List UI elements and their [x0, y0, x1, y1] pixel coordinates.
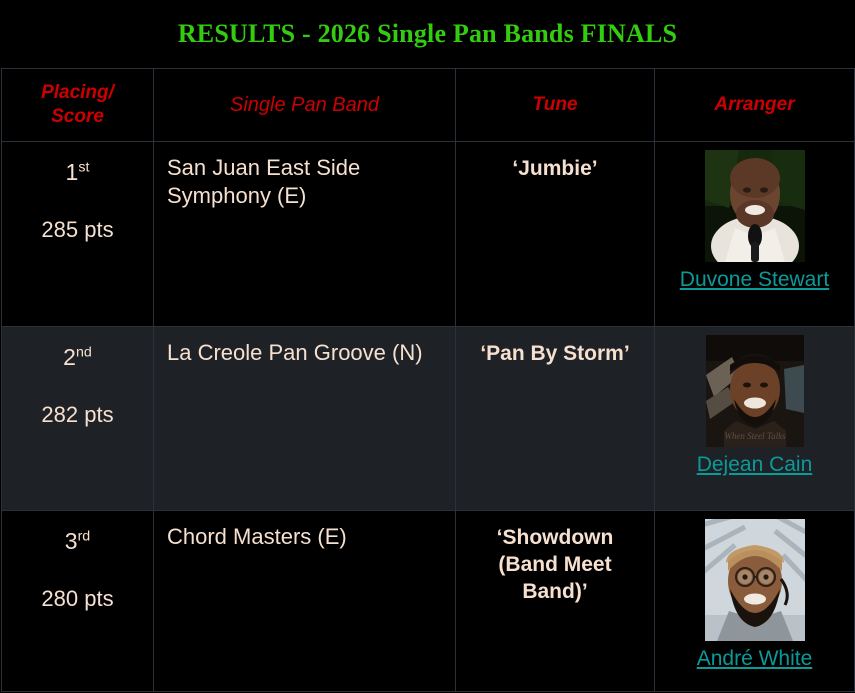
rank-suffix: st — [78, 159, 89, 175]
cell-band-name: Chord Masters (E) — [154, 511, 456, 692]
column-header-single-pan-band: Single Pan Band — [154, 69, 456, 142]
column-header-placing-line1: Placing/ — [2, 81, 153, 105]
placing-rank: 1st — [12, 160, 143, 185]
portrait-dejean-cain-icon: When Steel Talks — [706, 335, 804, 447]
cell-band-name: San Juan East Side Symphony (E) — [154, 142, 456, 327]
rank-number: 1 — [66, 159, 79, 185]
cell-tune: ‘Showdown (Band Meet Band)’ — [456, 511, 655, 692]
column-header-band-label: Single Pan Band — [154, 93, 455, 118]
tune-name: ‘Pan By Storm’ — [466, 339, 644, 368]
cell-placing-score: 2nd 282 pts — [2, 327, 154, 511]
arranger-link[interactable]: André White — [697, 647, 813, 671]
cell-tune: ‘Jumbie’ — [456, 142, 655, 327]
column-header-placing-score: Placing/ Score — [2, 69, 154, 142]
svg-text:When Steel Talks: When Steel Talks — [724, 431, 786, 441]
column-header-tune-label: Tune — [456, 93, 654, 117]
arranger-photo — [705, 519, 805, 641]
column-header-placing-line2: Score — [2, 105, 153, 129]
results-page: RESULTS - 2026 Single Pan Bands FINALS P… — [0, 0, 855, 693]
placing-rank: 3rd — [12, 529, 143, 554]
rank-suffix: rd — [78, 528, 91, 544]
portrait-duvone-stewart-icon — [705, 150, 805, 262]
placing-rank: 2nd — [12, 345, 143, 370]
table-header-row: Placing/ Score Single Pan Band Tune Arra… — [2, 69, 855, 142]
page-title-bar: RESULTS - 2026 Single Pan Bands FINALS — [0, 0, 855, 68]
table-row: 3rd 280 pts Chord Masters (E) ‘Showdown … — [2, 511, 855, 692]
arranger-photo: When Steel Talks — [706, 335, 804, 447]
band-name: Chord Masters (E) — [164, 523, 445, 551]
tune-name: ‘Jumbie’ — [466, 154, 644, 183]
cell-placing-score: 1st 285 pts — [2, 142, 154, 327]
cell-arranger: When Steel Talks Dejean Cain — [655, 327, 855, 511]
band-name: San Juan East Side Symphony (E) — [164, 154, 445, 210]
cell-arranger: André White — [655, 511, 855, 692]
cell-tune: ‘Pan By Storm’ — [456, 327, 655, 511]
column-header-arranger: Arranger — [655, 69, 855, 142]
page-title: RESULTS - 2026 Single Pan Bands FINALS — [178, 19, 677, 49]
table-row: 2nd 282 pts La Creole Pan Groove (N) ‘Pa… — [2, 327, 855, 511]
column-header-arranger-label: Arranger — [655, 93, 854, 117]
cell-placing-score: 3rd 280 pts — [2, 511, 154, 692]
table-row: 1st 285 pts San Juan East Side Symphony … — [2, 142, 855, 327]
column-header-tune: Tune — [456, 69, 655, 142]
arranger-link[interactable]: Dejean Cain — [697, 453, 813, 477]
score-value: 280 pts — [12, 586, 143, 612]
tune-name: ‘Showdown (Band Meet Band)’ — [466, 523, 644, 606]
portrait-andre-white-icon — [705, 519, 805, 641]
rank-suffix: nd — [76, 344, 92, 360]
arranger-photo — [705, 150, 805, 262]
cell-band-name: La Creole Pan Groove (N) — [154, 327, 456, 511]
results-table: Placing/ Score Single Pan Band Tune Arra… — [1, 68, 855, 692]
band-name: La Creole Pan Groove (N) — [164, 339, 445, 367]
rank-number: 3 — [65, 528, 78, 554]
score-value: 282 pts — [12, 402, 143, 428]
arranger-link[interactable]: Duvone Stewart — [680, 268, 829, 292]
score-value: 285 pts — [12, 217, 143, 243]
cell-arranger: Duvone Stewart — [655, 142, 855, 327]
rank-number: 2 — [63, 344, 76, 370]
